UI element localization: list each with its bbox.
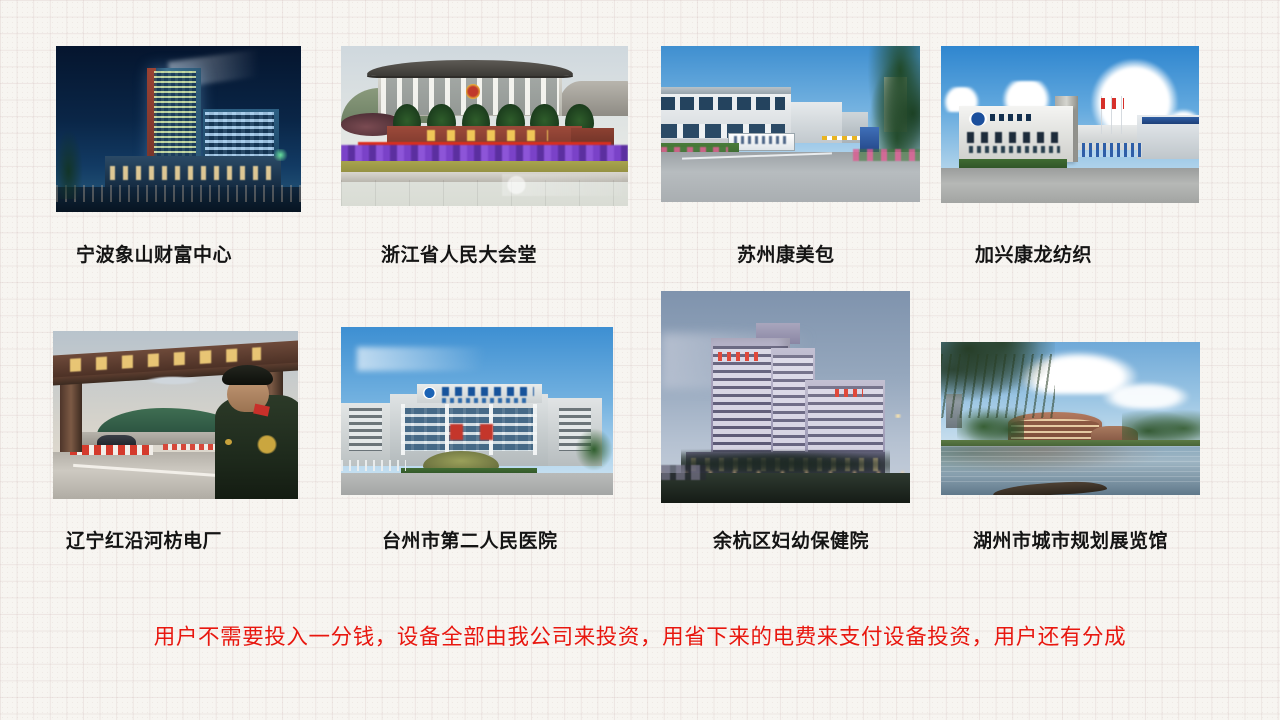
caption-jiaxing-konglong-textile: 加兴康龙纺织 xyxy=(975,240,1092,267)
image-zhejiang-peoples-great-hall[interactable] xyxy=(341,46,628,206)
image-ningbo-xiangshan-fortune-center[interactable] xyxy=(56,46,301,212)
caption-suzhou-kangmeibao: 苏州康美包 xyxy=(737,240,835,267)
photo-scene xyxy=(941,46,1199,203)
red-road-barriers xyxy=(163,444,217,451)
caption-huzhou-city-planning-exhibition-hall: 湖州市城市规划展览馆 xyxy=(973,526,1168,553)
arch-ceiling-lamp xyxy=(146,376,200,384)
red-banner xyxy=(450,424,464,439)
red-flags xyxy=(1101,98,1124,109)
podium-lit-windows xyxy=(110,166,272,181)
caption-yuhang-maternity-child-care-hospital: 余杭区妇幼保健院 xyxy=(713,526,869,553)
blue-gate-fence xyxy=(1075,143,1142,157)
photo-scene xyxy=(661,291,910,503)
photo-watermark xyxy=(502,174,623,196)
image-jiaxing-konglong-textile[interactable] xyxy=(941,46,1199,203)
signboard-text xyxy=(734,136,788,144)
red-banner xyxy=(480,424,494,439)
parked-cars xyxy=(661,465,706,480)
photo-scene xyxy=(56,46,301,212)
image-taizhou-second-peoples-hospital[interactable] xyxy=(341,327,613,495)
english-company-name xyxy=(969,146,1059,152)
image-suzhou-kangmeibao-factory[interactable] xyxy=(661,46,920,202)
logo-wordmark xyxy=(990,114,1031,122)
photo-scene xyxy=(53,331,298,499)
paved-forecourt xyxy=(941,168,1199,203)
crowd-silhouettes xyxy=(56,185,301,202)
caption-zhejiang-peoples-great-hall: 浙江省人民大会堂 xyxy=(381,240,537,267)
cumulus-cloud xyxy=(1102,382,1190,410)
national-emblem xyxy=(466,84,480,98)
facade-columns xyxy=(401,404,537,454)
caption-ningbo-xiangshan-fortune-center: 宁波象山财富中心 xyxy=(76,240,232,267)
water-reflections xyxy=(941,446,1200,483)
upper-window-row xyxy=(661,97,785,109)
wall-gold-characters xyxy=(427,130,548,141)
green-light-glow xyxy=(272,149,289,161)
roof-parapet-band xyxy=(661,87,791,95)
hospital-name-chinese xyxy=(442,387,534,395)
caption-liaoning-hongyanhe-power-plant: 辽宁红沿河枋电厂 xyxy=(66,526,222,553)
chinese-company-name xyxy=(967,132,1065,143)
gatehouse-canopy xyxy=(1142,117,1199,125)
willow-hanging-branches xyxy=(941,354,1055,418)
side-tree xyxy=(575,428,613,472)
guard-arm-emblem xyxy=(256,435,278,453)
photo-scene xyxy=(941,342,1200,495)
photo-scene xyxy=(341,327,613,495)
foreground-tree xyxy=(56,129,83,199)
slide-canvas: 宁波象山财富中心 xyxy=(0,0,1280,720)
image-liaoning-hongyanhe-power-plant[interactable] xyxy=(53,331,298,499)
photo-scene xyxy=(661,46,920,202)
image-yuhang-maternity-child-care-hospital[interactable] xyxy=(661,291,910,503)
image-huzhou-city-planning-exhibition-hall[interactable] xyxy=(941,342,1200,495)
guard-button xyxy=(225,439,232,446)
wing-red-signage xyxy=(835,389,862,397)
left-louvre-panel xyxy=(349,408,382,452)
red-road-barriers xyxy=(70,445,153,455)
gate-barrier xyxy=(822,136,863,139)
right-pink-flowers xyxy=(853,149,920,161)
perimeter-railing xyxy=(341,460,406,472)
bottom-tagline: 用户不需要投入一分钱，设备全部由我公司来投资，用省下来的电费来支付设备投资，用户… xyxy=(0,620,1280,651)
hospital-name-english xyxy=(442,398,529,403)
caption-taizhou-second-peoples-hospital: 台州市第二人民医院 xyxy=(382,526,558,553)
thin-cloud xyxy=(357,347,526,371)
street-lamp-glow xyxy=(893,414,903,418)
facade-red-signage xyxy=(718,352,760,360)
forecourt-pavement xyxy=(341,473,613,495)
photo-scene xyxy=(341,46,628,206)
